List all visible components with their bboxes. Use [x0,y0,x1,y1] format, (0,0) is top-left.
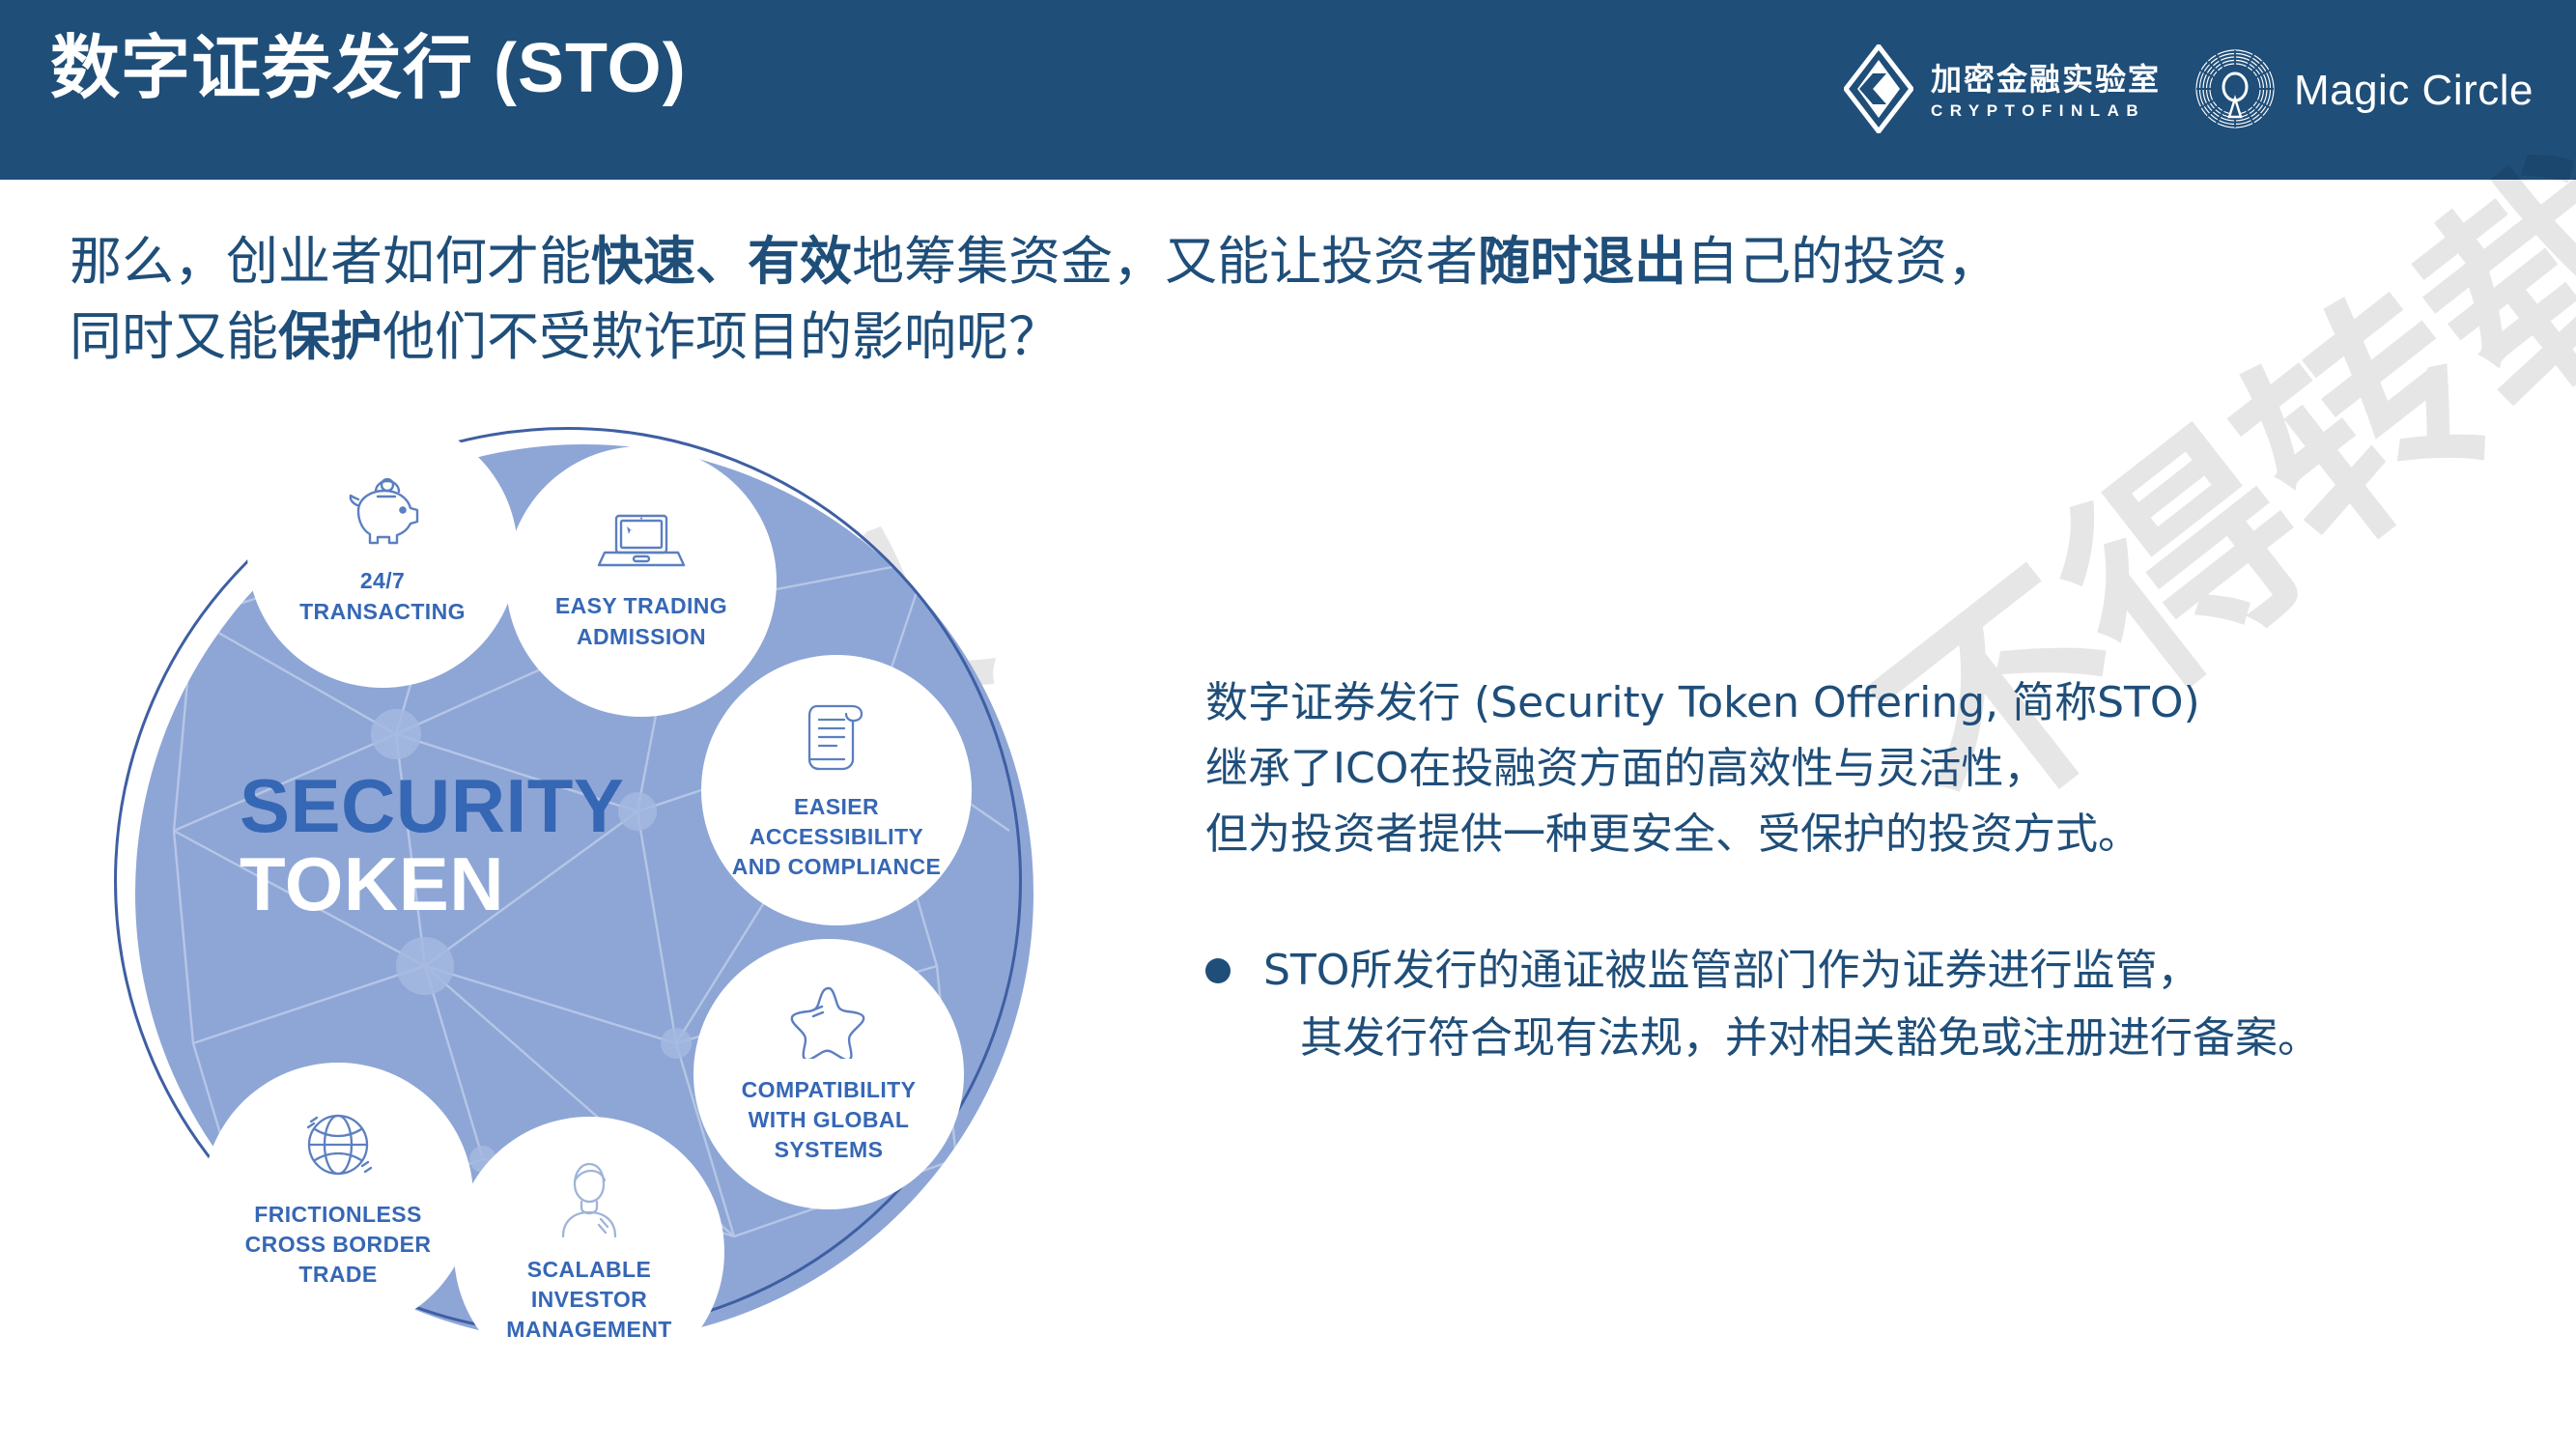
label-line: CROSS BORDER [245,1232,432,1257]
wordmark-line-security: SECURITY [240,767,624,845]
bullet-list: STO所发行的通证被监管部门作为证券进行监管， 其发行符合现有法规，并对相关豁免… [1205,937,2558,1071]
header-bar: 数字证券发行 (STO) 加密金融实验室 CRYPTOFINLAB [0,0,2576,180]
bullet-text: STO所发行的通证被监管部门作为证券进行监管， 其发行符合现有法规，并对相关豁免… [1263,937,2320,1071]
intro-line-1: 那么，创业者如何才能快速、有效地筹集资金，又能让投资者随时退出自己的投资， [70,224,2272,299]
bullet-line-1: STO所发行的通证被监管部门作为证券进行监管， [1263,946,2199,995]
page-title: 数字证券发行 (STO) [50,25,687,112]
list-item: STO所发行的通证被监管部门作为证券进行监管， 其发行符合现有法规，并对相关豁免… [1205,937,2558,1071]
intro-l2-c: 他们不受欺诈项目的影响呢？ [382,306,1061,367]
right-body-line-3: 但为投资者提供一种更安全、受保护的投资方式。 [1205,802,2548,867]
label-line: SCALABLE [527,1257,651,1282]
cryptofinlab-logo: 加密金融实验室 CRYPTOFINLAB [1844,44,2161,138]
node-label-frictionless-cross-border: FRICTIONLESS CROSS BORDER TRADE [236,1200,441,1290]
cryptofinlab-english-name: CRYPTOFINLAB [1931,102,2161,119]
spiral-circle-logo-icon [2194,47,2277,135]
security-token-infographic: SECURITY TOKEN 24/7 TRANSACTING [114,417,1205,1412]
right-body-line-1: 数字证券发行 (Security Token Offering, 简称STO) [1205,670,2548,736]
node-easier-accessibility[interactable]: EASIER ACCESSIBILITY AND COMPLIANCE [701,655,972,925]
cryptofinlab-wordmark: 加密金融实验室 CRYPTOFINLAB [1931,64,2161,119]
security-token-wordmark: SECURITY TOKEN [240,767,624,923]
label-line: WITH GLOBAL [749,1107,910,1132]
intro-line-2: 同时又能保护他们不受欺诈项目的影响呢？ [70,299,2272,375]
intro-l2-a: 同时又能 [70,306,278,367]
node-label-easy-trading-admission: EASY TRADING ADMISSION [546,591,737,651]
diamond-logo-icon [1844,44,1913,138]
label-line: TRADE [298,1262,377,1287]
right-description-block: 数字证券发行 (Security Token Offering, 简称STO) … [1205,670,2548,867]
globe-icon [299,1106,377,1188]
cryptofinlab-chinese-name: 加密金融实验室 [1931,64,2161,95]
star-icon [789,983,868,1064]
label-line: MANAGEMENT [506,1317,671,1342]
piggy-bank-icon [341,478,424,554]
node-transacting-247[interactable]: 24/7 TRANSACTING [247,417,518,688]
node-easy-trading-admission[interactable]: EASY TRADING ADMISSION [506,446,777,717]
label-line: EASIER [794,794,879,819]
intro-l1-bold-1: 快速、有效 [591,231,852,292]
laptop-icon [597,511,686,580]
magic-circle-label: Magic Circle [2294,67,2534,115]
node-label-easier-accessibility: EASIER ACCESSIBILITY AND COMPLIANCE [722,792,950,882]
label-line: ACCESSIBILITY [750,824,923,849]
intro-l1-bold-2: 随时退出 [1478,231,1686,292]
right-body-line-2: 继承了ICO在投融资方面的高效性与灵活性， [1205,736,2548,802]
node-label-scalable-investor: SCALABLE INVESTOR MANAGEMENT [496,1255,681,1345]
label-line: EASY TRADING [555,593,727,618]
label-line: FRICTIONLESS [254,1202,421,1227]
label-line: INVESTOR [531,1287,647,1312]
intro-l2-bold-1: 保护 [278,306,382,367]
scroll-document-icon [802,698,871,781]
node-label-transacting-247: 24/7 TRANSACTING [290,566,475,626]
intro-l1-c: 地筹集资金，又能让投资者 [852,231,1478,292]
label-line: ADMISSION [577,624,706,649]
bullet-line-2: 其发行符合现有法规，并对相关豁免或注册进行备案。 [1263,1013,2320,1063]
intro-paragraph: 那么，创业者如何才能快速、有效地筹集资金，又能让投资者随时退出自己的投资， 同时… [70,224,2272,376]
label-line: SYSTEMS [775,1137,884,1162]
label-line: COMPATIBILITY [742,1077,917,1102]
label-line: TRANSACTING [299,599,466,624]
bullet-dot-icon [1205,958,1231,983]
intro-l1-a: 那么，创业者如何才能 [70,231,591,292]
magic-circle-logo: Magic Circle [2194,47,2534,135]
logo-cluster: 加密金融实验室 CRYPTOFINLAB [1844,44,2534,137]
node-frictionless-cross-border[interactable]: FRICTIONLESS CROSS BORDER TRADE [203,1063,473,1333]
label-line: AND COMPLIANCE [732,854,941,879]
label-line: 24/7 [360,568,405,593]
node-compatibility-global[interactable]: COMPATIBILITY WITH GLOBAL SYSTEMS [694,939,964,1209]
wordmark-line-token: TOKEN [240,845,624,923]
node-label-compatibility-global: COMPATIBILITY WITH GLOBAL SYSTEMS [732,1075,926,1165]
intro-l1-e: 自己的投资， [1686,231,1999,292]
node-scalable-investor[interactable]: SCALABLE INVESTOR MANAGEMENT [454,1117,724,1387]
person-icon [554,1159,624,1243]
